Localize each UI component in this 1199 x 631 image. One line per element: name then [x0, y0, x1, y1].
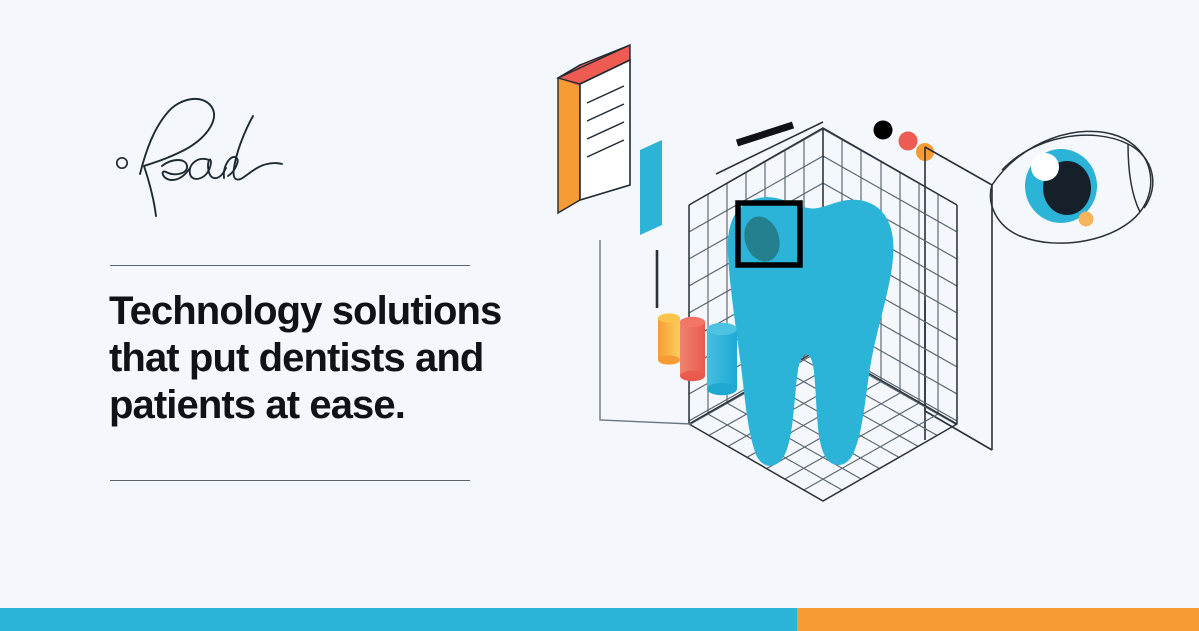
logo-letter-p: [140, 99, 214, 216]
eye-highlight: [1031, 153, 1059, 181]
pearl-logo[interactable]: [110, 92, 410, 222]
cyan-panel: [640, 140, 662, 235]
footer-bar-orange: [797, 608, 1199, 631]
left-content-panel: Technology solutions that put dentists a…: [0, 0, 540, 631]
bar-chart-cylinders[interactable]: [658, 313, 737, 395]
cylinder-orange: [658, 313, 680, 364]
footer-bar-cyan: [0, 608, 797, 631]
iso-dental-scene-icon: [540, 0, 1199, 608]
logo-letter-a: [190, 159, 226, 179]
cyan-panel-group: [640, 140, 662, 308]
status-dot-red-icon: [899, 132, 918, 151]
eye-accent-dot-icon: [1079, 212, 1094, 227]
page-title: Technology solutions that put dentists a…: [109, 288, 529, 429]
footer-color-bar: [0, 608, 1199, 631]
logo-letter-e: [162, 160, 190, 180]
pearl-hero-banner: Technology solutions that put dentists a…: [0, 0, 1199, 631]
eye[interactable]: [990, 131, 1152, 243]
pearl-logo-script-icon: [110, 92, 410, 222]
eye-corner-line: [1128, 144, 1140, 212]
tooth[interactable]: [728, 197, 894, 466]
cylinder-red: [680, 317, 705, 381]
cylinder-cyan: [707, 323, 737, 395]
divider-bottom: [110, 480, 470, 481]
divider-top: [110, 265, 470, 266]
accent-dashes: [716, 122, 823, 174]
status-dot-black-icon: [874, 121, 893, 140]
document-side-face: [558, 65, 580, 213]
logo-circle-dot-icon: [117, 158, 127, 168]
hero-illustration: [540, 0, 1199, 608]
document-card[interactable]: [558, 45, 692, 424]
logo-letter-l: [234, 116, 282, 180]
